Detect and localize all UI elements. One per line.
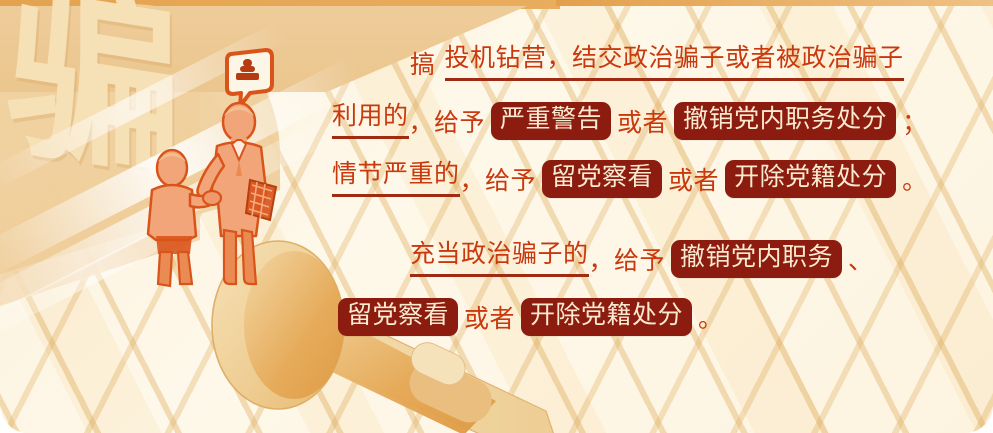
penalty-badge[interactable]: 开除党籍处分: [725, 160, 896, 199]
text-line: 利用的，给予严重警告或者撤销党内职务处分；: [332, 92, 980, 150]
paragraph-p1: 搞投机钻营，结交政治骗子或者被政治骗子利用的，给予严重警告或者撤销党内职务处分；…: [332, 34, 980, 208]
body-text: 搞: [410, 45, 436, 81]
text-line: 留党察看或者开除党籍处分。: [332, 288, 980, 346]
text-line: 情节严重的，给予留党察看或者开除党籍处分。: [332, 150, 980, 208]
penalty-badge[interactable]: 开除党籍处分: [521, 298, 692, 337]
body-text: 。: [902, 161, 928, 197]
emphasised-text: 情节严重的: [332, 161, 460, 197]
penalty-badge[interactable]: 留党察看: [542, 160, 662, 199]
penalty-badge[interactable]: 撤销党内职务: [671, 240, 842, 279]
emphasised-text: 投机钻营，结交政治骗子或者被政治骗子: [445, 45, 904, 81]
body-text: ，给予: [460, 161, 537, 197]
body-text: 或者: [464, 299, 515, 335]
text-content: 搞投机钻营，结交政治骗子或者被政治骗子利用的，给予严重警告或者撤销党内职务处分；…: [332, 34, 980, 350]
penalty-badge[interactable]: 严重警告: [491, 102, 611, 141]
penalty-badge[interactable]: 撤销党内职务处分: [674, 102, 896, 141]
text-line: 搞投机钻营，结交政治骗子或者被政治骗子: [332, 34, 980, 92]
body-text: 。: [698, 299, 724, 335]
top-accent-bar-right: [556, 0, 993, 6]
handshake-svg: [100, 40, 350, 290]
body-text: 、: [848, 241, 874, 277]
people-illustration: [100, 40, 350, 290]
body-text: ，给予: [589, 241, 666, 277]
paragraph-p2: 充当政治骗子的，给予撤销党内职务、留党察看或者开除党籍处分。: [332, 230, 980, 346]
infographic-poster: 骗: [0, 0, 993, 433]
body-text: ；: [902, 103, 928, 139]
text-line: 充当政治骗子的，给予撤销党内职务、: [332, 230, 980, 288]
emphasised-text: 充当政治骗子的: [410, 241, 589, 277]
body-text: ，给予: [409, 103, 486, 139]
body-text: 或者: [617, 103, 668, 139]
speech-bubble: [227, 50, 272, 106]
emphasised-text: 利用的: [332, 103, 409, 139]
body-text: 或者: [668, 161, 719, 197]
penalty-badge[interactable]: 留党察看: [338, 298, 458, 337]
